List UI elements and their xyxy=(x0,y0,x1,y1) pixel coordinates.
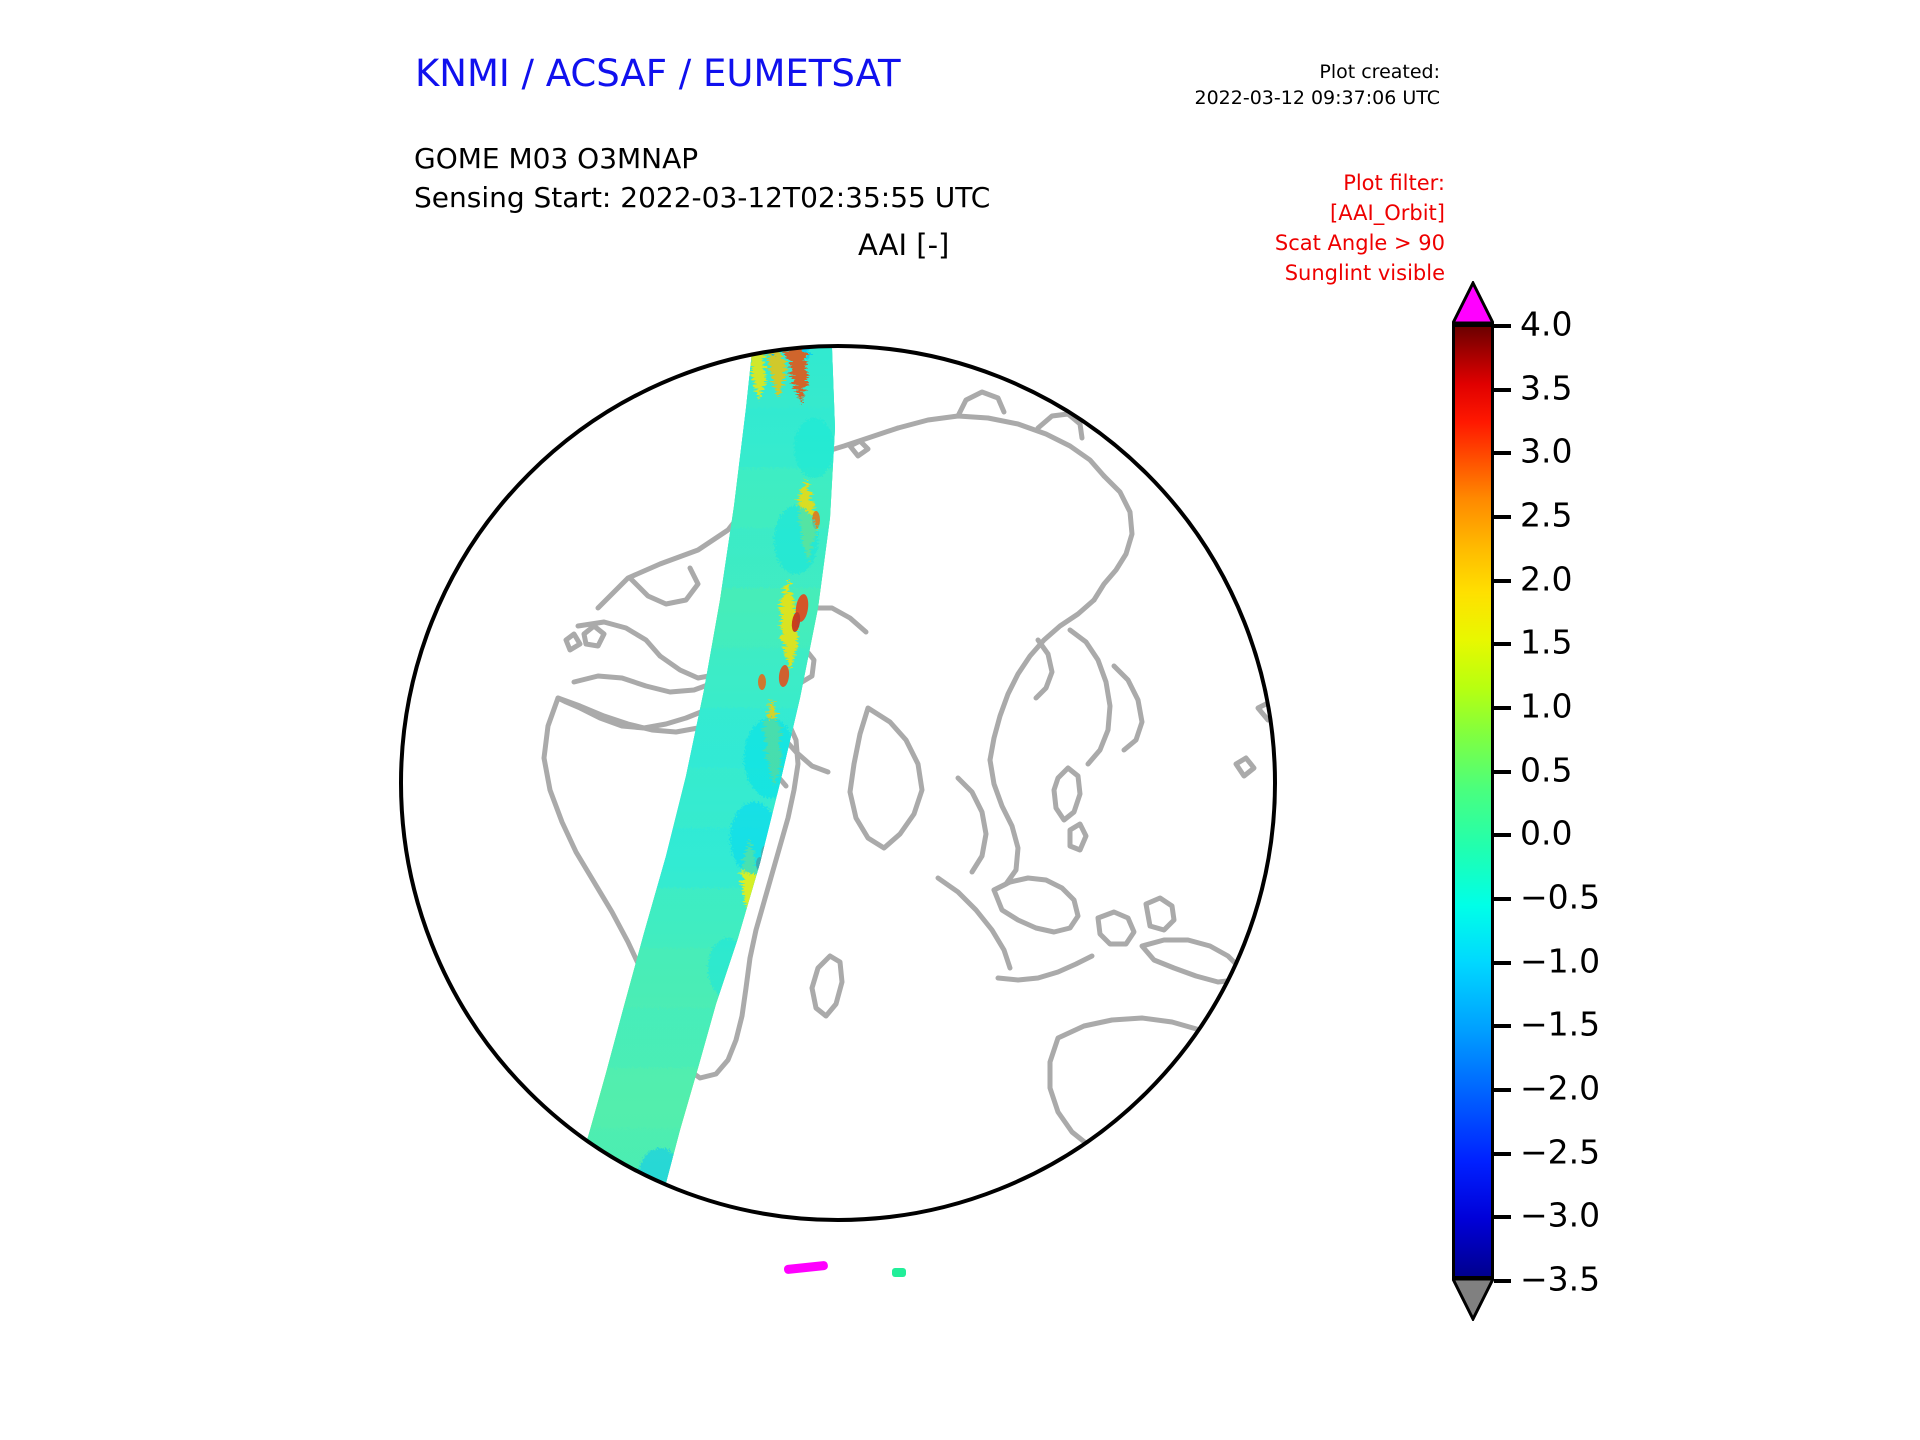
plot-created-block: Plot created: 2022-03-12 09:37:06 UTC xyxy=(1150,60,1440,111)
quantity-label: AAI [-] xyxy=(858,228,949,262)
colorbar-tick xyxy=(1494,706,1511,710)
colorbar-tick xyxy=(1494,1279,1511,1283)
colorbar-over-range-arrow xyxy=(1452,281,1494,325)
colorbar: 4.0 3.5 3.0 2.5 2.0 1.5 1.0 0.5 0.0 −0.5… xyxy=(1452,283,1642,1313)
colorbar-tick-label: 0.5 xyxy=(1520,751,1572,790)
instrument-product-line: GOME M03 O3MNAP xyxy=(414,140,990,179)
colorbar-tick-label: 0.0 xyxy=(1520,814,1572,853)
colorbar-tick-label: −1.5 xyxy=(1520,1005,1600,1044)
colorbar-tick-label: 1.0 xyxy=(1520,687,1572,726)
colorbar-tick xyxy=(1494,579,1511,583)
colorbar-tick xyxy=(1494,961,1511,965)
dataset-info-block: GOME M03 O3MNAP Sensing Start: 2022-03-1… xyxy=(414,140,990,217)
colorbar-tick xyxy=(1494,833,1511,837)
colorbar-tick xyxy=(1494,451,1511,455)
colorbar-tick-label: 3.0 xyxy=(1520,432,1572,471)
colorbar-tick xyxy=(1494,388,1511,392)
colorbar-tick-label: 3.5 xyxy=(1520,369,1572,408)
colorbar-tick xyxy=(1494,1215,1511,1219)
stray-over-range-marker xyxy=(784,1261,829,1275)
colorbar-under-range-arrow xyxy=(1452,1277,1494,1321)
colorbar-tick-label: −2.0 xyxy=(1520,1069,1600,1108)
sensing-start-line: Sensing Start: 2022-03-12T02:35:55 UTC xyxy=(414,179,990,218)
globe-map xyxy=(398,278,1278,1288)
colorbar-tick-label: 2.0 xyxy=(1520,560,1572,599)
colorbar-tick-label: 2.5 xyxy=(1520,496,1572,535)
plot-created-timestamp: 2022-03-12 09:37:06 UTC xyxy=(1150,86,1440,112)
colorbar-tick-label: −0.5 xyxy=(1520,878,1600,917)
plot-filter-line: [AAI_Orbit] xyxy=(1175,198,1445,228)
colorbar-tick-label: −1.0 xyxy=(1520,942,1600,981)
colorbar-tick-label: 1.5 xyxy=(1520,623,1572,662)
colorbar-tick xyxy=(1494,770,1511,774)
colorbar-tick xyxy=(1494,642,1511,646)
plot-filter-line: Plot filter: xyxy=(1175,168,1445,198)
colorbar-gradient xyxy=(1452,324,1494,1279)
plot-filter-line: Scat Angle > 90 xyxy=(1175,228,1445,258)
colorbar-tick xyxy=(1494,515,1511,519)
globe-svg xyxy=(398,278,1278,1288)
colorbar-tick xyxy=(1494,897,1511,901)
colorbar-tick-label: −3.5 xyxy=(1520,1260,1600,1299)
globe-disc xyxy=(401,346,1275,1220)
colorbar-tick xyxy=(1494,1088,1511,1092)
colorbar-tick-label: 4.0 xyxy=(1520,305,1572,344)
colorbar-tick xyxy=(1494,324,1511,328)
colorbar-tick-label: −3.0 xyxy=(1520,1196,1600,1235)
colorbar-tick xyxy=(1494,1152,1511,1156)
stray-in-range-marker xyxy=(892,1268,906,1277)
plot-filter-block: Plot filter: [AAI_Orbit] Scat Angle > 90… xyxy=(1175,168,1445,288)
plot-created-label: Plot created: xyxy=(1150,60,1440,86)
page-title: KNMI / ACSAF / EUMETSAT xyxy=(415,52,901,95)
colorbar-tick xyxy=(1494,1024,1511,1028)
colorbar-tick-label: −2.5 xyxy=(1520,1133,1600,1172)
